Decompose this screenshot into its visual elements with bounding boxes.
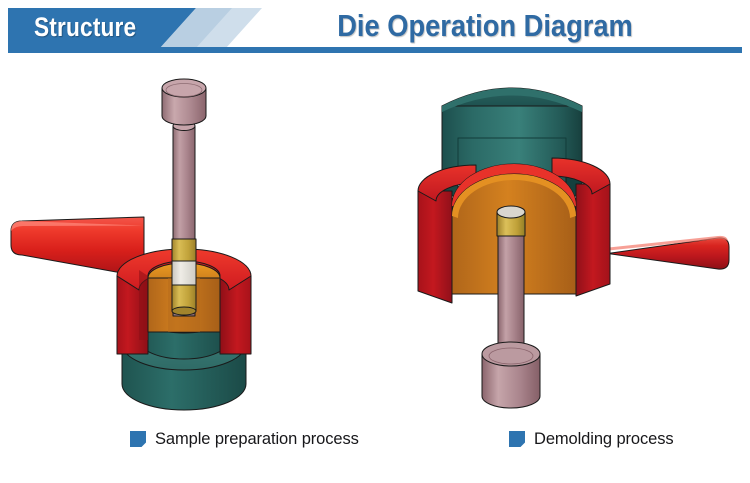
left-punch-cap — [162, 79, 206, 125]
caption-sample-preparation-label: Sample preparation process — [155, 430, 359, 449]
caption-demolding: Demolding process — [509, 424, 674, 454]
right-handle — [590, 236, 729, 269]
bullet-square-icon — [509, 431, 525, 447]
right-sample-disc — [497, 206, 525, 218]
sample-preparation-diagram — [0, 56, 360, 416]
left-brass-spacer-bottom — [172, 285, 196, 315]
left-sample-disc — [172, 261, 196, 285]
bullet-square-icon — [130, 431, 146, 447]
header-rule — [8, 47, 742, 53]
demolding-diagram — [390, 56, 750, 416]
page-title: Die Operation Diagram — [322, 6, 648, 46]
figure-area — [0, 56, 750, 416]
header-banner: Structure Die Operation Diagram — [0, 0, 750, 56]
caption-demolding-label: Demolding process — [534, 430, 674, 449]
left-brass-spacer-top — [172, 239, 196, 261]
right-ejected-punch-cap — [482, 342, 540, 408]
caption-row: Sample preparation process Demolding pro… — [0, 424, 750, 464]
header-tag-label: Structure — [34, 10, 152, 44]
slide-page: Structure Die Operation Diagram — [0, 0, 750, 483]
caption-sample-preparation: Sample preparation process — [130, 424, 359, 454]
